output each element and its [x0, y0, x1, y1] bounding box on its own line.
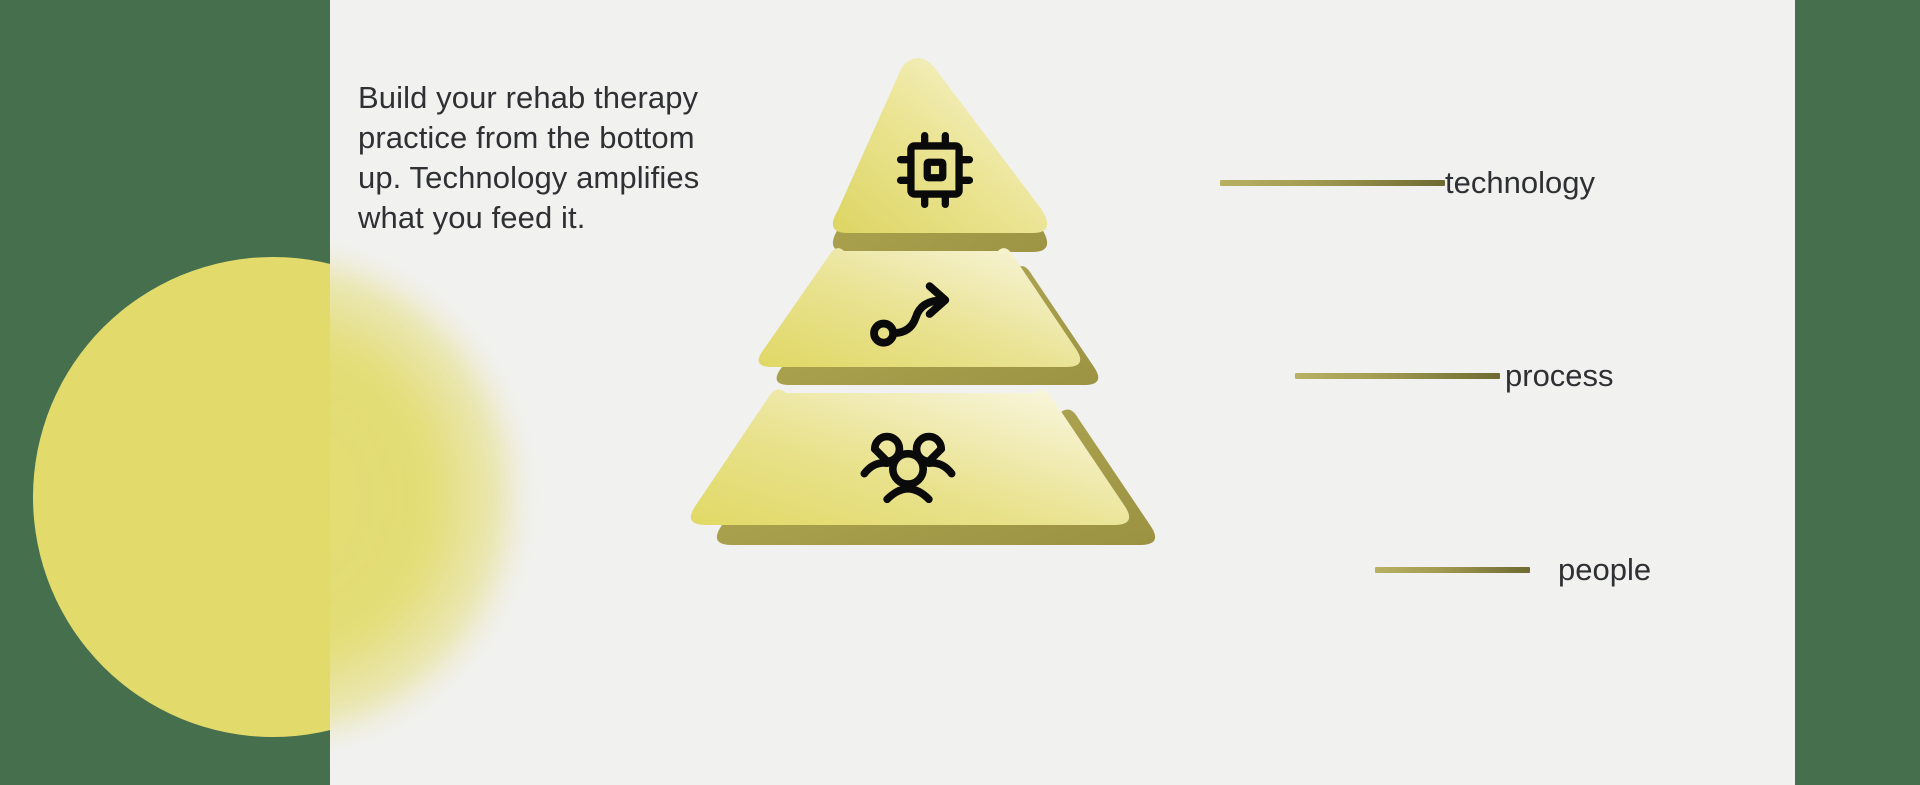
tier-label-process: process — [1505, 358, 1614, 394]
winding-arrow-icon — [870, 281, 958, 347]
tier-label-people: people — [1558, 552, 1651, 588]
infographic-canvas: Build your rehab therapy practice from t… — [0, 0, 1920, 785]
decorative-circle-glow — [330, 257, 513, 737]
cpu-chip-icon — [892, 127, 978, 213]
pyramid-tier-technology[interactable] — [820, 55, 1060, 245]
pyramid-tier-people[interactable] — [670, 387, 1210, 547]
connector-line-people — [1375, 567, 1530, 573]
content-panel: Build your rehab therapy practice from t… — [330, 0, 1795, 785]
connector-line-technology — [1220, 180, 1445, 186]
pyramid-diagram — [670, 55, 1210, 555]
tier-label-technology: technology — [1445, 165, 1595, 201]
users-three-icon — [858, 429, 958, 505]
pyramid-tier-process[interactable] — [740, 245, 1140, 385]
connector-line-process — [1295, 373, 1500, 379]
